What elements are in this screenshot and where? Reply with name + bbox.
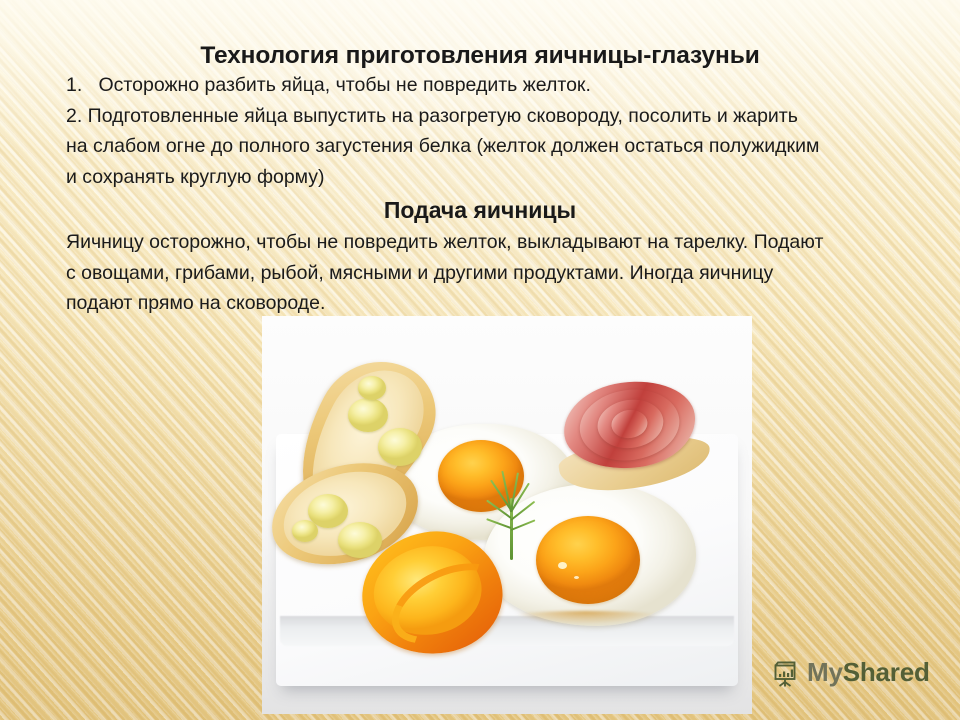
step-line-2: 2. Подготовленные яйца выпустить на разо… (66, 101, 936, 132)
dill-frond (511, 519, 536, 531)
presentation-chart-icon (770, 658, 800, 688)
myshared-wordmark: MyShared (807, 657, 930, 688)
butter-rosette (358, 376, 386, 400)
butter-rosette (348, 398, 388, 432)
myshared-watermark: MyShared (770, 657, 930, 688)
serving-line-3: подают прямо на сковороде. (66, 288, 936, 319)
serving-line-1: Яичницу осторожно, чтобы не повредить же… (66, 227, 936, 258)
step-line-3: на слабом огне до полного загустения бел… (66, 131, 936, 162)
dish-photograph (262, 316, 752, 714)
step-line-1: 1. Осторожно разбить яйца, чтобы не повр… (66, 70, 936, 101)
serving-description-list: Яичницу осторожно, чтобы не повредить же… (0, 224, 960, 319)
preparation-steps-list: 1. Осторожно разбить яйца, чтобы не повр… (0, 70, 960, 192)
serving-section-title: Подача яичницы (0, 192, 960, 224)
wordmark-shared: Shared (843, 657, 930, 687)
dill-sprig (466, 468, 558, 560)
bacon-rose (553, 365, 707, 491)
butter-rosette (292, 520, 318, 542)
wordmark-my: My (807, 657, 843, 687)
slide-canvas: Технология приготовления яичницы-глазунь… (0, 0, 960, 720)
step-line-4: и сохранять круглую форму) (66, 162, 936, 193)
butter-rosette (378, 428, 422, 466)
slide-content: Технология приготовления яичницы-глазунь… (0, 0, 960, 319)
serving-line-2: с овощами, грибами, рыбой, мясными и дру… (66, 258, 936, 289)
slide-title: Технология приготовления яичницы-глазунь… (0, 0, 960, 70)
dill-frond (486, 518, 511, 529)
